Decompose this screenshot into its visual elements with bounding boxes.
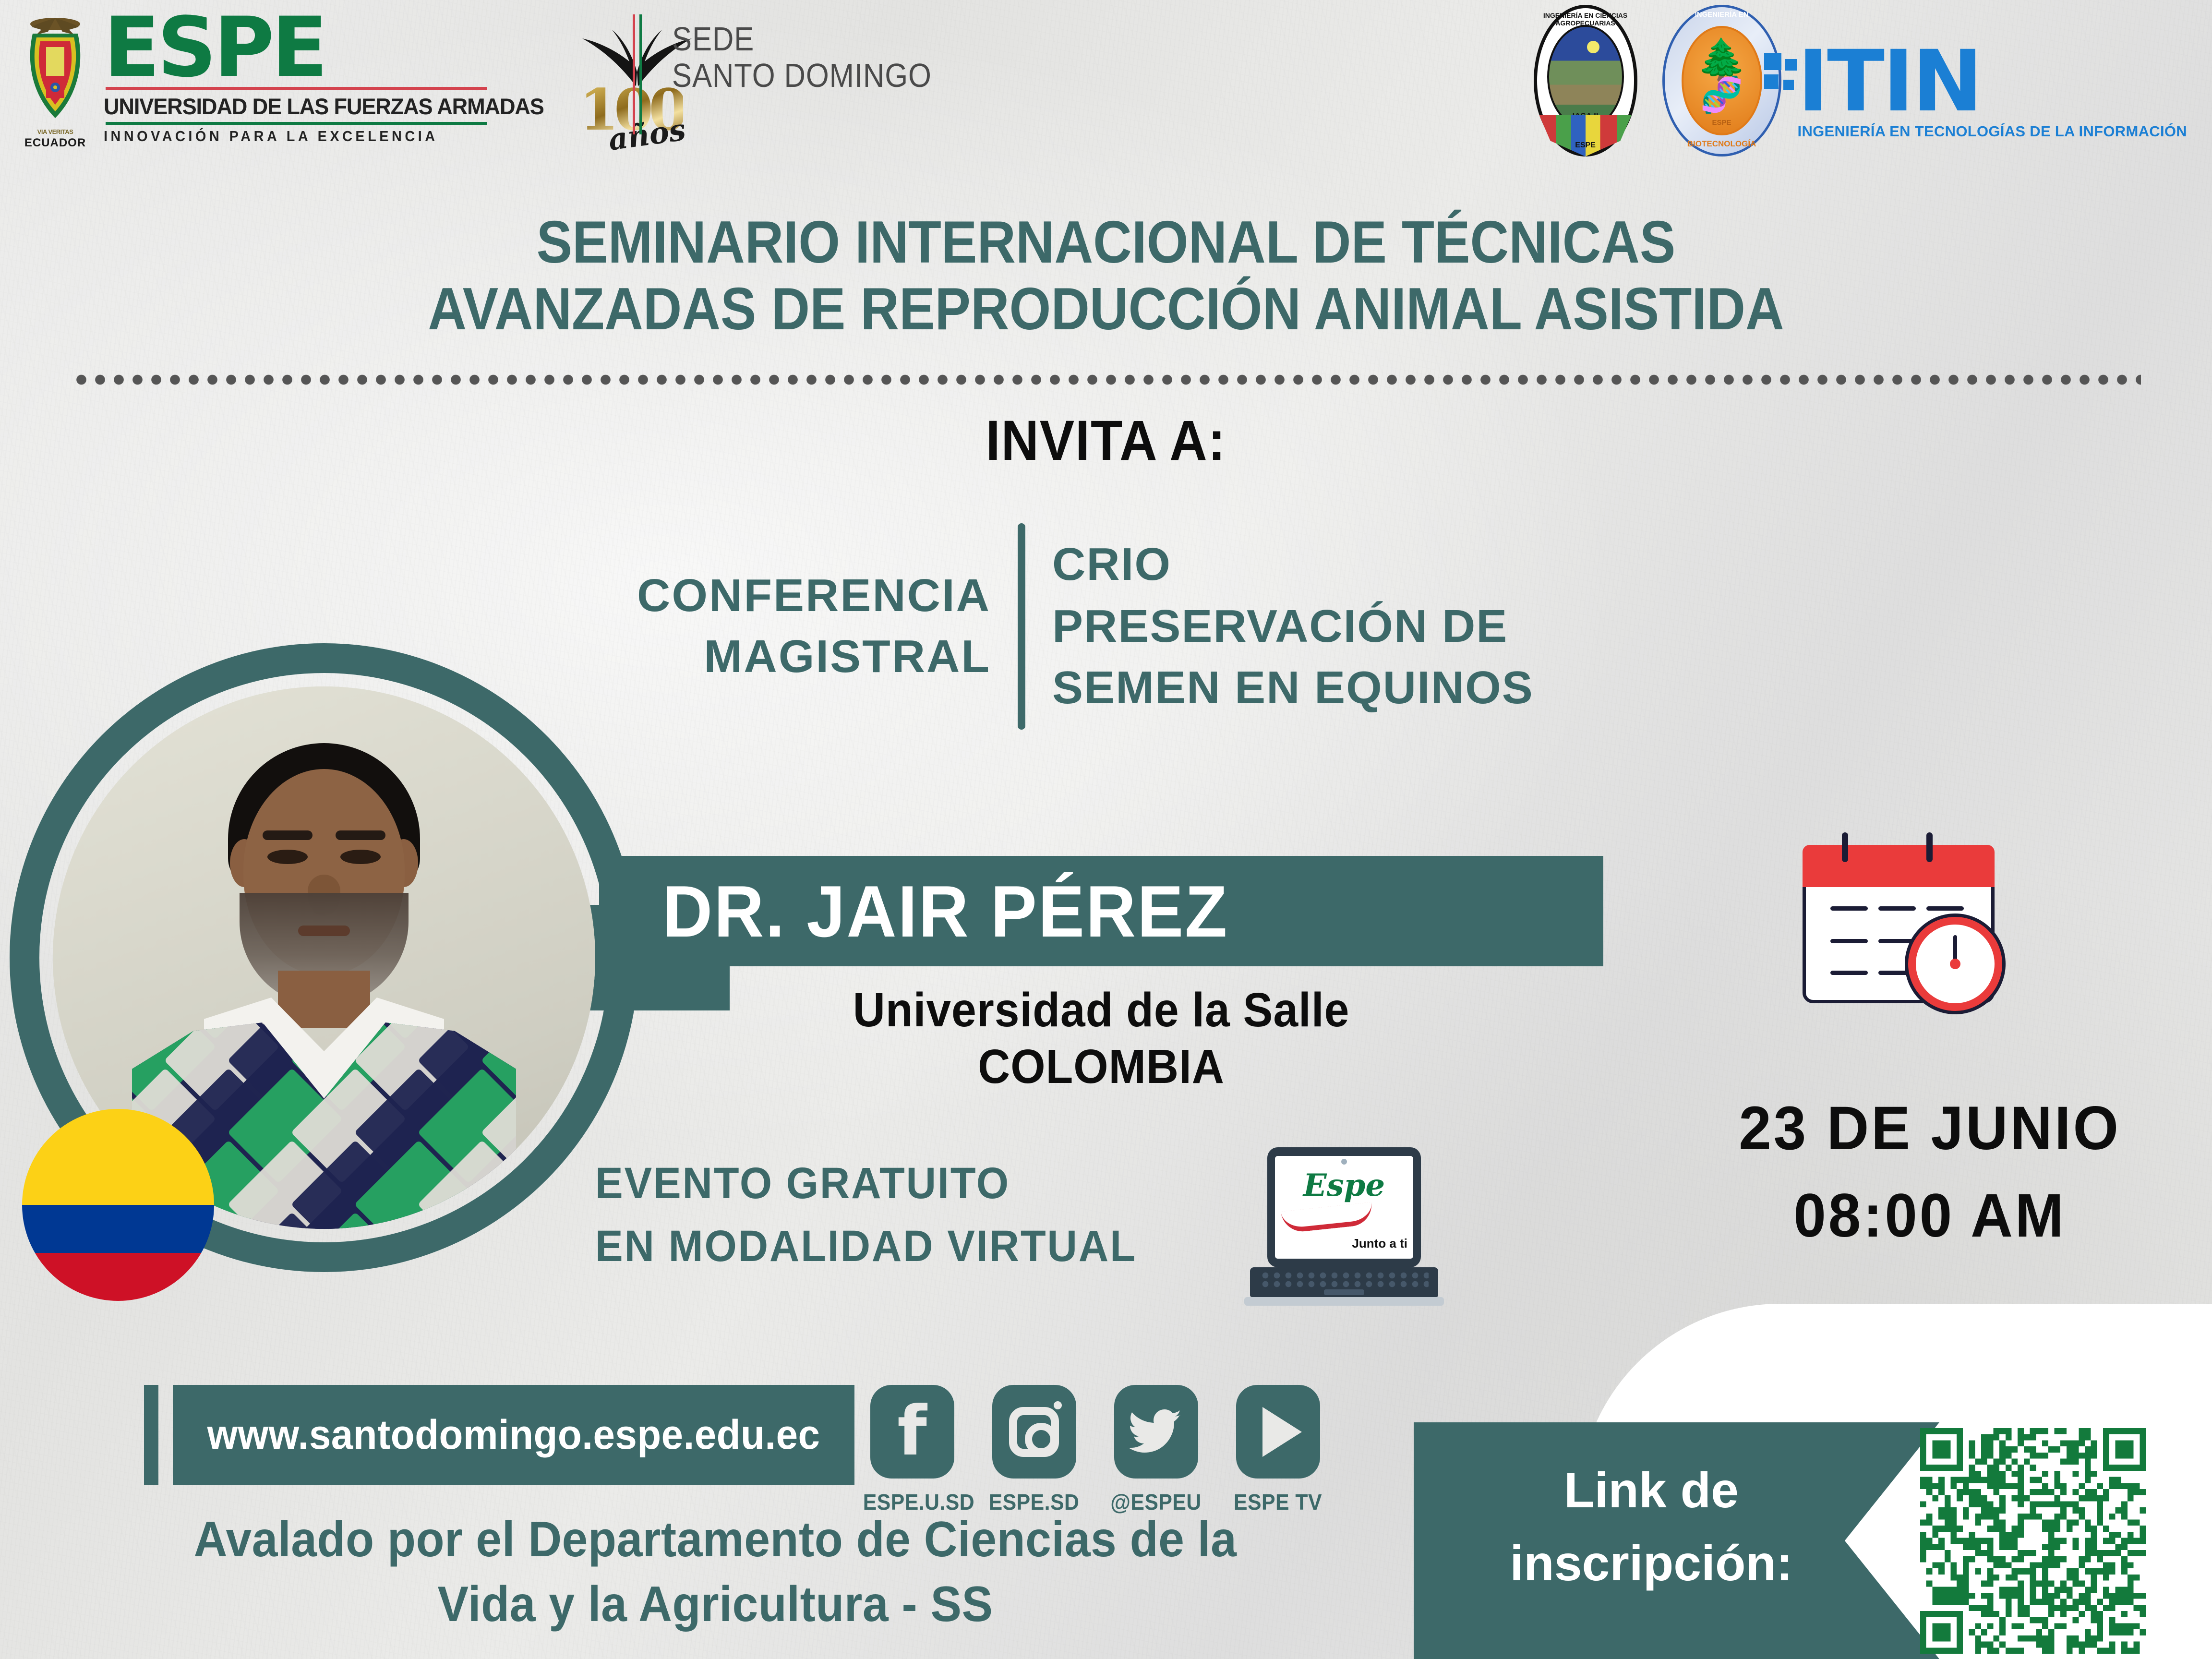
espe-wordmark-block: ESPE UNIVERSIDAD DE LAS FUERZAS ARMADAS … — [104, 11, 562, 145]
poster-canvas: VIA VERITAS ECUADOR ESPE UNIVERSIDAD DE … — [0, 0, 2212, 1659]
youtube-icon[interactable] — [1236, 1385, 1320, 1479]
event-time: 08:00 AM — [1683, 1172, 2176, 1260]
topic-line-2: PRESERVACIÓN DE — [1052, 596, 1534, 658]
registration-line-2: inscripción: — [1435, 1527, 1867, 1600]
conference-type: CONFERENCIA MAGISTRAL — [634, 565, 1018, 687]
event-datetime: 23 DE JUNIO 08:00 AM — [1683, 1085, 2176, 1260]
speaker-name: DR. JAIR PÉREZ — [662, 870, 1529, 954]
qr-code[interactable] — [1920, 1428, 2146, 1654]
topic-line-3: SEMEN EN EQUINOS — [1052, 657, 1534, 719]
free-event-line-1: EVENTO GRATUITO — [595, 1152, 1272, 1215]
endorsement-note: Avalado por el Departamento de Ciencias … — [50, 1507, 1380, 1637]
shield-caption: ECUADOR — [19, 136, 91, 150]
conference-topic: CRIO PRESERVACIÓN DE SEMEN EN EQUINOS — [1025, 534, 1534, 719]
shield-motto: VIA VERITAS — [19, 128, 91, 135]
registration-line-1: Link de — [1435, 1455, 1867, 1527]
calendar-clock-icon — [1803, 845, 1995, 1003]
itin-logo: ITIN INGENIERÍA EN TECNOLOGÍAS DE LA INF… — [1798, 21, 2187, 141]
topic-line-1: CRIO — [1052, 534, 1534, 596]
flag-rule-icon — [633, 14, 642, 134]
social-links: f ESPE.U.SD ESPE.SD @ESPEU ESPE TV — [859, 1385, 1331, 1515]
endorsement-line-1: Avalado por el Departamento de Ciencias … — [50, 1507, 1380, 1572]
conference-block: CONFERENCIA MAGISTRAL CRIO PRESERVACIÓN … — [634, 523, 1534, 730]
facebook-icon[interactable]: f — [870, 1385, 954, 1479]
vertical-divider — [1018, 523, 1025, 730]
campus-name: SEDE SANTO DOMINGO — [672, 21, 932, 94]
free-event-line-2: EN MODALIDAD VIRTUAL — [595, 1215, 1272, 1278]
biotecnologia-seal-icon: 🌲 🧬 INGENIERÍA EN ESPE BIOTECNOLOGÍA — [1662, 5, 1781, 156]
itin-pixel-dots-icon — [1764, 53, 1793, 94]
itin-subtitle: INGENIERÍA EN TECNOLOGÍAS DE LA INFORMAC… — [1798, 123, 2187, 140]
colombia-flag-icon — [22, 1109, 214, 1301]
social-facebook[interactable]: f ESPE.U.SD — [859, 1385, 965, 1515]
laptop-icon: Espe Junto a ti — [1238, 1147, 1450, 1306]
tree-icon: 🌲 — [1662, 39, 1781, 80]
itin-wordmark: ITIN — [1798, 48, 2187, 116]
social-youtube[interactable]: ESPE TV — [1225, 1385, 1331, 1515]
iasa-tag: ESPE — [1525, 141, 1646, 150]
invite-label: INVITA A: — [88, 408, 2123, 473]
speaker-affiliation: Universidad de la Salle COLOMBIA — [634, 982, 1568, 1095]
affiliation-university: Universidad de la Salle — [634, 982, 1568, 1038]
ecuador-shield-icon: VIA VERITAS ECUADOR — [19, 11, 91, 150]
website-box[interactable]: www.santodomingo.espe.edu.ec — [173, 1385, 854, 1485]
free-event-note: EVENTO GRATUITO EN MODALIDAD VIRTUAL — [595, 1152, 1272, 1277]
iasa-seal-icon: INGENIERÍA EN CIENCIAS AGROPECUARIAS IAS… — [1525, 5, 1646, 156]
endorsement-line-2: Vida y la Agricultura - SS — [50, 1572, 1380, 1637]
espe-wordmark: ESPE — [104, 13, 562, 82]
iasa-ring-top: INGENIERÍA EN CIENCIAS AGROPECUARIAS — [1525, 12, 1646, 27]
website-url[interactable]: www.santodomingo.espe.edu.ec — [207, 1411, 820, 1459]
registration-label: Link de inscripción: — [1435, 1455, 1867, 1600]
biotec-ring-top: INGENIERÍA EN — [1662, 11, 1781, 19]
page-title: SEMINARIO INTERNACIONAL DE TÉCNICAS AVAN… — [110, 209, 2101, 343]
espe-tagline-1: UNIVERSIDAD DE LAS FUERZAS ARMADAS — [104, 93, 544, 120]
dotted-divider — [72, 373, 2141, 386]
conference-type-line-2: MAGISTRAL — [634, 626, 991, 687]
title-line-2: AVANZADAS DE REPRODUCCIÓN ANIMAL ASISTID… — [110, 276, 2101, 343]
laptop-brand: Espe — [1275, 1167, 1413, 1203]
espe-tagline-2: INNOVACIÓN PARA LA EXCELENCIA — [104, 128, 530, 145]
social-twitter[interactable]: @ESPEU — [1103, 1385, 1209, 1515]
espe-green-rule — [106, 122, 487, 125]
affiliation-country: COLOMBIA — [634, 1038, 1568, 1095]
biotec-tag: ESPE — [1662, 119, 1781, 127]
dna-icon: 🧬 — [1662, 78, 1781, 112]
title-line-1: SEMINARIO INTERNACIONAL DE TÉCNICAS — [110, 209, 2101, 276]
social-instagram[interactable]: ESPE.SD — [981, 1385, 1087, 1515]
laptop-slogan: Junto a ti — [1352, 1236, 1407, 1251]
event-date: 23 DE JUNIO — [1683, 1085, 2176, 1172]
biotec-ring-bottom: BIOTECNOLOGÍA — [1662, 139, 1781, 149]
partner-logos: INGENIERÍA EN CIENCIAS AGROPECUARIAS IAS… — [1525, 5, 2187, 156]
conference-type-line-1: CONFERENCIA — [634, 565, 991, 626]
twitter-icon[interactable] — [1114, 1385, 1198, 1479]
poster-header: VIA VERITAS ECUADOR ESPE UNIVERSIDAD DE … — [0, 0, 2212, 187]
instagram-icon[interactable] — [992, 1385, 1076, 1479]
espe-logo-lockup: VIA VERITAS ECUADOR ESPE UNIVERSIDAD DE … — [19, 11, 697, 155]
website-accent-bar — [144, 1385, 158, 1485]
